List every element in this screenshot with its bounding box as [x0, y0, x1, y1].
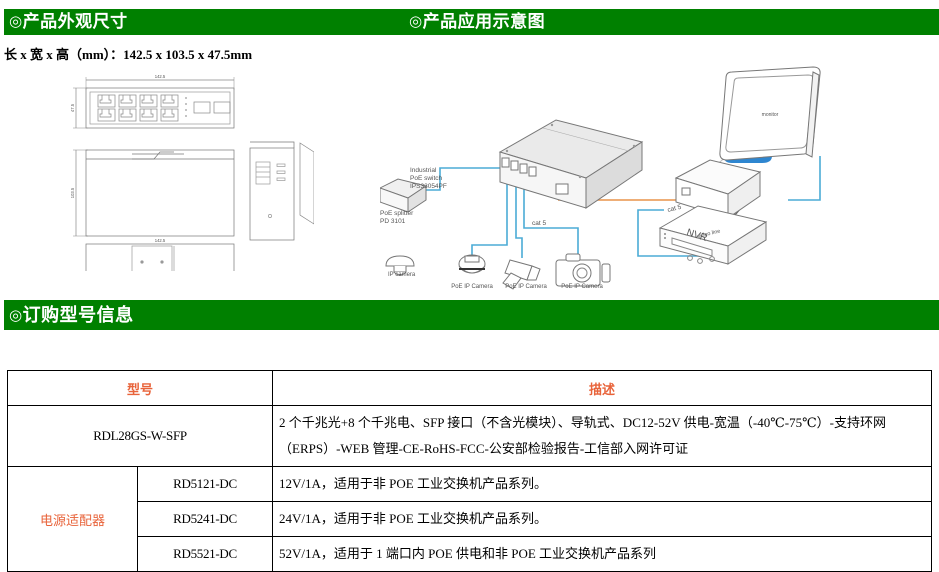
- section-title-application: 产品应用示意图: [423, 12, 546, 31]
- monitor-label: monitor: [762, 112, 779, 118]
- industrial-poe-switch-device: [500, 120, 642, 208]
- table-row: RD5241-DC 24V/1A，适用于非 POE 工业交换机产品系列。: [8, 502, 932, 537]
- section-title-order: 订购型号信息: [23, 305, 134, 325]
- dimension-label-bottom-width: 142.5: [155, 238, 166, 243]
- poe-camera-label-3: PoE IP Camera: [561, 284, 603, 290]
- cat5-label-right: cat 5: [667, 204, 683, 214]
- section-header-application: ◎产品应用示意图: [404, 9, 939, 35]
- switch-label-line-3: IPS33054PF: [410, 183, 447, 190]
- cell-description: 52V/1A，适用于 1 端口内 POE 供电和非 POE 工业交换机产品系列: [273, 537, 932, 572]
- cell-description: 12V/1A，适用于非 POE 工业交换机产品系列。: [273, 467, 932, 502]
- cable-switch-to-camera-2: [516, 178, 522, 258]
- cell-model: RD5121-DC: [138, 467, 273, 502]
- cell-model: RD5241-DC: [138, 502, 273, 537]
- cell-description: 24V/1A，适用于非 POE 工业交换机产品系列。: [273, 502, 932, 537]
- table-row: RD5521-DC 52V/1A，适用于 1 端口内 POE 供电和非 POE …: [8, 537, 932, 572]
- cable-right-uplink: [788, 156, 820, 200]
- column-header-model: 型号: [8, 371, 273, 406]
- dimension-label-top-width: 142.5: [155, 74, 166, 79]
- description-line: （ERPS）-WEB 管理-CE-RoHS-FCC-公安部检验报告-工信部入网许…: [279, 436, 925, 462]
- switch-label-line-2: PoE switch: [410, 175, 443, 182]
- table-row: 电源适配器 RD5121-DC 12V/1A，适用于非 POE 工业交换机产品系…: [8, 467, 932, 502]
- table-header-row: 型号 描述: [8, 371, 932, 406]
- poe-ip-camera-dome: [459, 255, 485, 273]
- cell-model: RDL28GS-W-SFP: [8, 406, 273, 467]
- dimension-spec-text: 长 x 宽 x 高（mm）：142.5 x 103.5 x 47.5mm: [4, 44, 252, 63]
- switch-label-line-1: Industrial: [410, 167, 437, 174]
- product-dimension-drawing: 142.5 47.5 103.5 142.5: [14, 66, 314, 271]
- ip-camera-label: IP camera: [388, 272, 416, 278]
- bullet-icon: ◎: [409, 14, 423, 30]
- cell-description: 2 个千兆光+8 个千兆电、SFP 接口（不含光模块）、导轨式、DC12-52V…: [273, 406, 932, 467]
- cell-model: RD5521-DC: [138, 537, 273, 572]
- section-header-order: ◎订购型号信息: [4, 300, 939, 330]
- section-title-dimensions: 产品外观尺寸: [23, 12, 128, 31]
- cell-category: 电源适配器: [8, 467, 138, 572]
- application-topology-diagram: 广域网 monitor: [380, 60, 936, 290]
- order-information-table: 型号 描述 RDL28GS-W-SFP 2 个千兆光+8 个千兆电、SFP 接口…: [7, 370, 932, 572]
- poe-ip-camera-box: [556, 254, 610, 286]
- cable-switch-to-camera-1: [472, 173, 507, 260]
- bullet-icon: ◎: [9, 308, 23, 324]
- dimension-label-side-height: 103.5: [70, 187, 75, 198]
- splitter-label-line-1: PoE splitter: [380, 210, 414, 217]
- column-header-description: 描述: [273, 371, 932, 406]
- dimension-label-front-height: 47.5: [70, 103, 75, 112]
- cat5-label-left: cat 5: [532, 220, 546, 227]
- splitter-label-line-2: PD 3101: [380, 218, 406, 225]
- bullet-icon: ◎: [9, 14, 23, 30]
- section-header-dimensions: ◎产品外观尺寸: [4, 9, 466, 35]
- poe-camera-label-1: PoE IP Camera: [451, 284, 493, 290]
- poe-camera-label-2: PoE IP Camera: [505, 284, 547, 290]
- table-row: RDL28GS-W-SFP 2 个千兆光+8 个千兆电、SFP 接口（不含光模块…: [8, 406, 932, 467]
- description-line: 2 个千兆光+8 个千兆电、SFP 接口（不含光模块）、导轨式、DC12-52V…: [279, 410, 925, 436]
